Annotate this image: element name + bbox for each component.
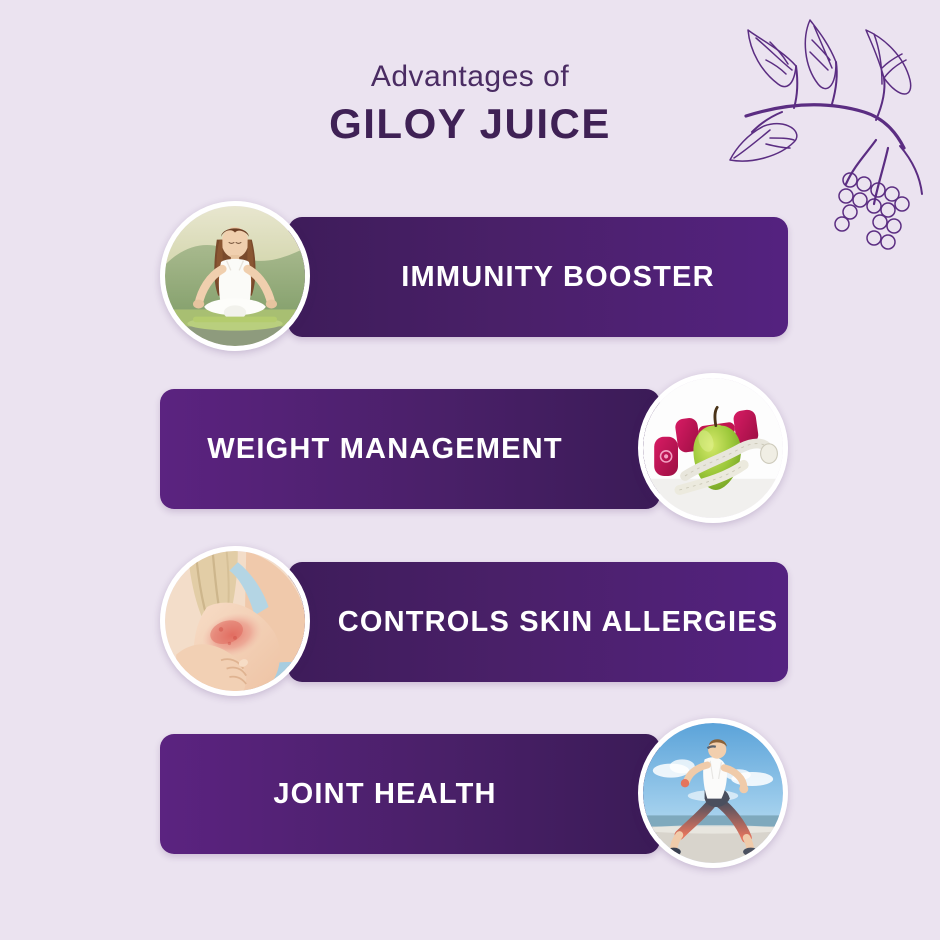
page-title: GILOY JUICE (0, 101, 940, 147)
benefit-bar: WEIGHT MANAGEMENT (160, 389, 660, 509)
benefit-bar: IMMUNITY BOOSTER (288, 217, 788, 337)
giloy-juice-infographic: Advantages of GILOY JUICE IMMUNITY BOOST… (0, 0, 940, 940)
benefit-row: JOINT HEALTH (0, 712, 940, 877)
benefit-label: IMMUNITY BOOSTER (288, 217, 788, 337)
benefit-label: JOINT HEALTH (160, 734, 660, 854)
running-woman-photo (638, 718, 788, 868)
benefit-label: WEIGHT MANAGEMENT (160, 389, 660, 509)
benefit-row: IMMUNITY BOOSTER (0, 195, 940, 360)
benefit-row: CONTROLS SKIN ALLERGIES (0, 540, 940, 705)
skin-rash-photo (160, 546, 310, 696)
eyebrow-text: Advantages of (0, 60, 940, 93)
benefit-bar: CONTROLS SKIN ALLERGIES (288, 562, 788, 682)
poster-header: Advantages of GILOY JUICE (0, 60, 940, 147)
meditating-woman-photo (160, 201, 310, 351)
benefit-label: CONTROLS SKIN ALLERGIES (288, 562, 788, 682)
apple-dumbbells-photo (638, 373, 788, 523)
benefit-bar: JOINT HEALTH (160, 734, 660, 854)
benefit-row: WEIGHT MANAGEMENT (0, 367, 940, 532)
